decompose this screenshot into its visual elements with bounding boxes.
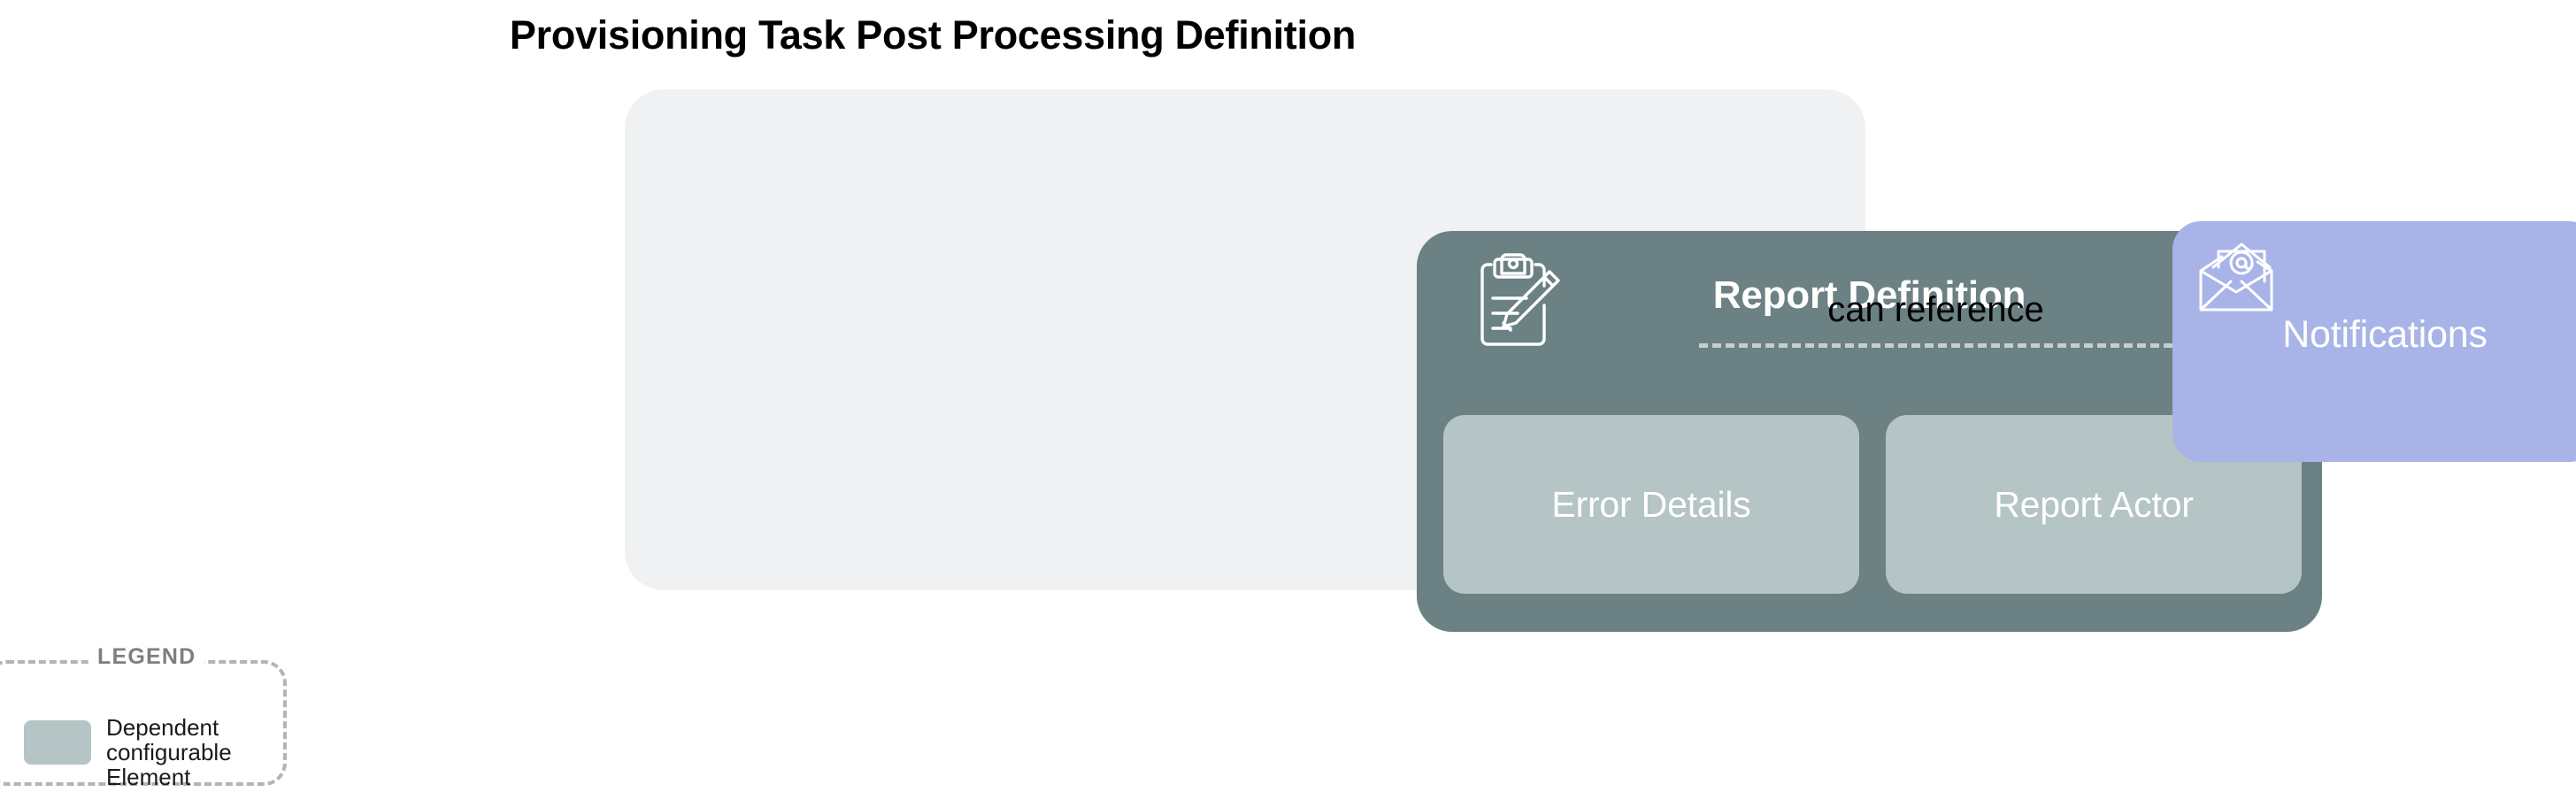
provisioning-task-container: Report Definition Error Details Report A… <box>625 89 1865 590</box>
child-box-report-actor-label: Report Actor <box>1994 484 2193 526</box>
legend-swatch-dependent-element <box>24 720 91 765</box>
connector-dashed-line <box>1699 343 2172 348</box>
connector-label: can reference <box>1699 290 2172 330</box>
child-box-error-details-label: Error Details <box>1551 484 1750 526</box>
notifications-node[interactable]: Notifications <box>2172 221 2576 462</box>
envelope-at-icon <box>2195 241 2277 313</box>
legend-title: LEGEND <box>88 644 204 670</box>
child-box-error-details[interactable]: Error Details <box>1443 415 1859 594</box>
page-title: Provisioning Task Post Processing Defini… <box>0 12 1865 58</box>
notifications-label: Notifications <box>2172 313 2576 357</box>
legend-entry-label: Dependentconfigurable Element <box>106 715 310 789</box>
legend-entry-line2: configurable Element <box>106 739 232 790</box>
legend-entry-line1: Dependent <box>106 714 219 741</box>
